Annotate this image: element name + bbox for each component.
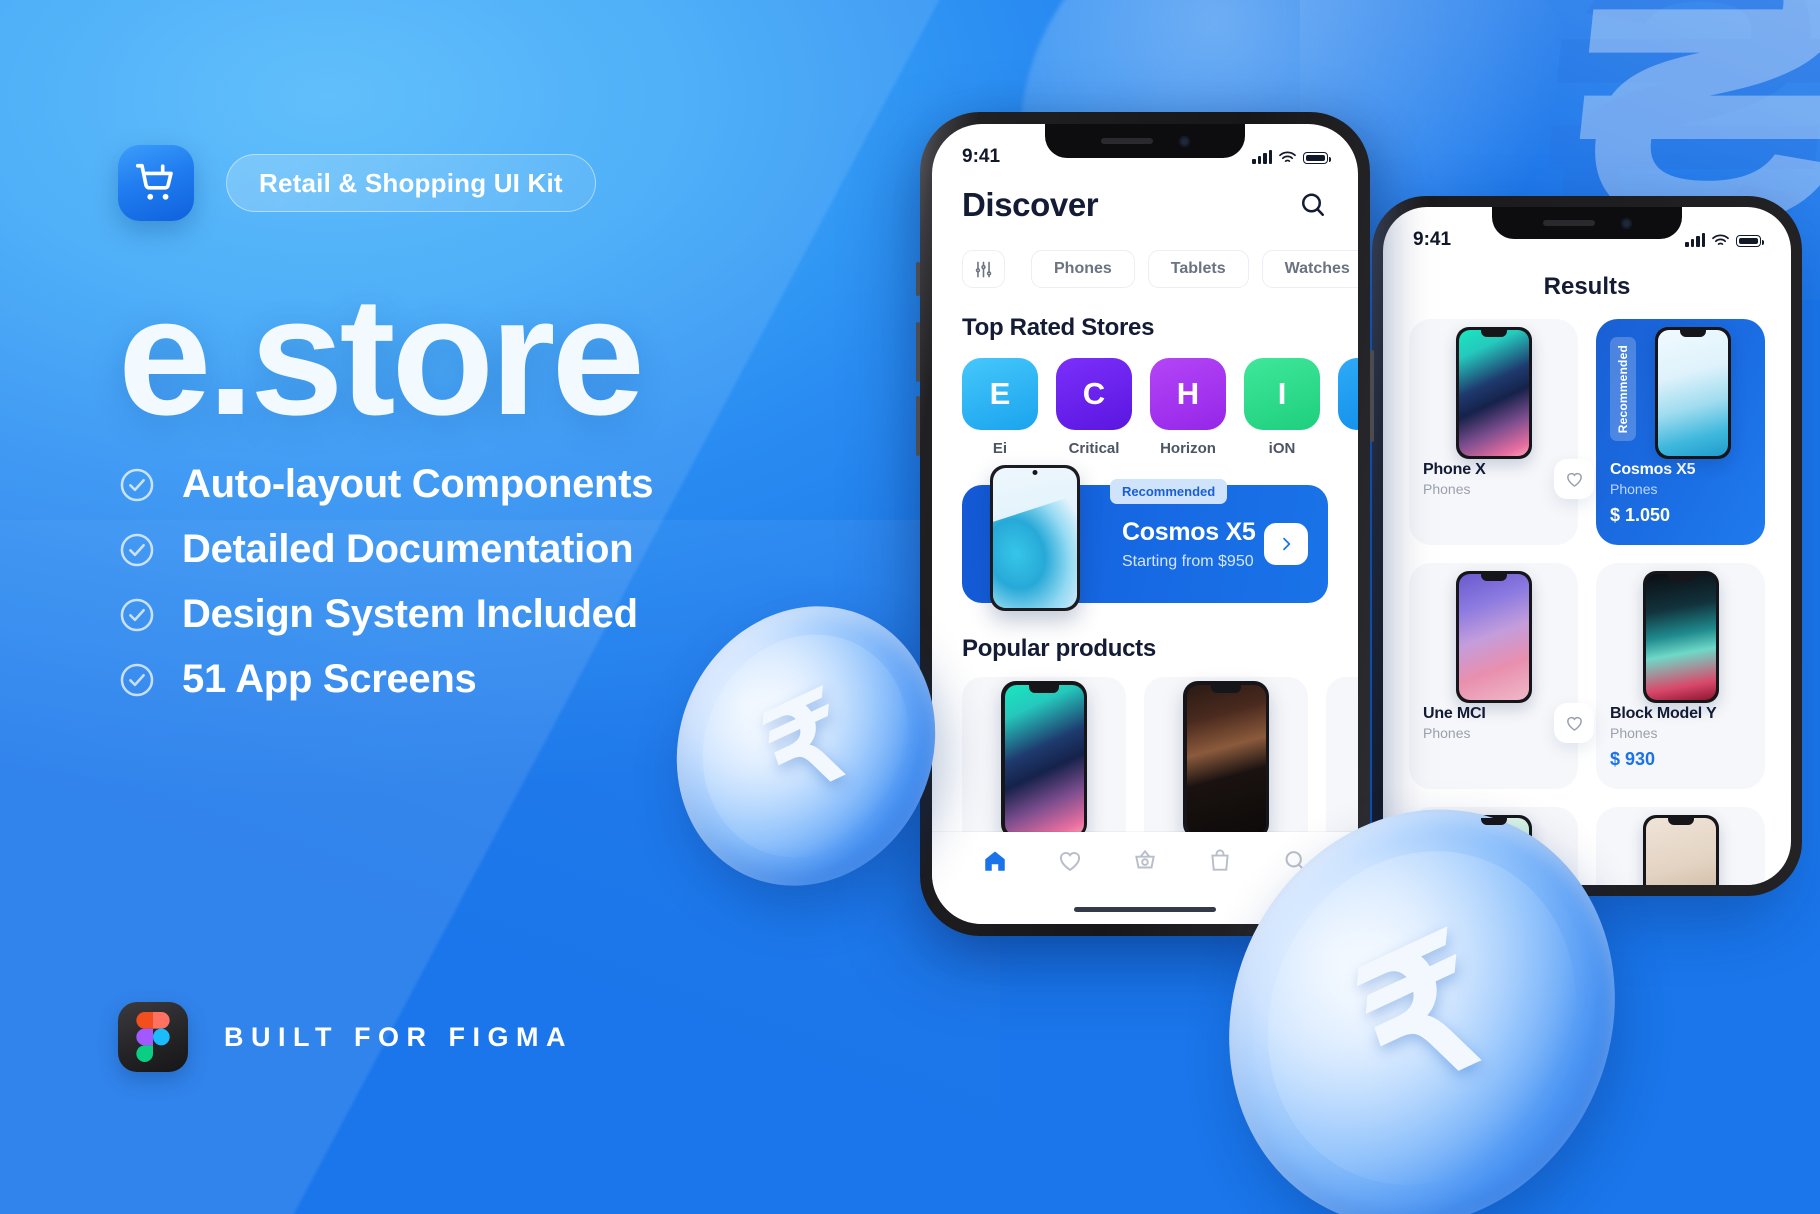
chip-phones[interactable]: Phones (1031, 250, 1135, 288)
phone-thumbnail (1655, 327, 1731, 459)
store-avatar: H (1150, 358, 1226, 430)
store-item[interactable]: I iON (1244, 358, 1320, 457)
product-image (1610, 577, 1751, 697)
feature-label: 51 App Screens (182, 657, 476, 702)
store-item[interactable]: X X G (1338, 358, 1358, 457)
tab-compare[interactable] (1132, 848, 1158, 874)
section-title-popular: Popular products (962, 635, 1328, 663)
battery-icon (1303, 152, 1328, 164)
phone-mockup-results: 9:41 Results Phone X Phones (1372, 196, 1802, 896)
feature-label: Design System Included (182, 592, 638, 637)
wallpaper (1459, 818, 1529, 885)
status-time: 9:41 (1413, 229, 1451, 251)
store-name: iON (1244, 440, 1320, 457)
filter-sliders-icon[interactable] (962, 250, 1005, 288)
phone-thumbnail (1456, 327, 1532, 459)
product-card[interactable]: Phone X Phones (1409, 319, 1578, 545)
product-card[interactable] (1596, 807, 1765, 885)
product-price: $ 930 (1610, 749, 1751, 770)
figma-logo-icon (118, 1002, 188, 1072)
wallpaper (1646, 574, 1716, 700)
list-item: Design System Included (118, 592, 653, 637)
store-name: Horizon (1150, 440, 1226, 457)
product-card[interactable]: Block Model Y Phones $ 930 (1596, 563, 1765, 789)
feature-list: Auto-layout Components Detailed Document… (118, 462, 653, 702)
product-category: Phones (1423, 481, 1564, 497)
search-icon[interactable] (1298, 190, 1328, 220)
tab-favorites[interactable] (1057, 848, 1083, 874)
phone-thumbnail (990, 465, 1080, 611)
product-category: Phones (1610, 481, 1751, 497)
phone-thumbnail (1001, 681, 1087, 839)
phone-thumbnail (1643, 815, 1719, 885)
front-camera-icon (1033, 470, 1038, 475)
phone-thumbnail (1643, 571, 1719, 703)
check-circle-icon (118, 596, 156, 634)
badge-label: Recommended (1616, 345, 1630, 433)
screen-header: Discover (962, 186, 1328, 224)
feature-label: Detailed Documentation (182, 527, 633, 572)
mute-switch[interactable] (916, 262, 920, 296)
wallpaper (993, 468, 1077, 608)
heart-icon (1565, 470, 1584, 489)
phone-thumbnail (1183, 681, 1269, 839)
discover-screen: Discover Phones Tablets Watches (932, 186, 1358, 903)
wallpaper (1658, 330, 1728, 456)
list-item: Auto-layout Components (118, 462, 653, 507)
power-button[interactable] (1370, 350, 1374, 442)
product-price: $ 1.050 (1610, 505, 1751, 526)
status-indicators (1685, 233, 1761, 247)
notch (1481, 818, 1507, 825)
home-indicator (1074, 907, 1216, 912)
notch (1029, 685, 1059, 693)
wifi-icon (1279, 151, 1296, 164)
check-circle-icon (118, 531, 156, 569)
product-card[interactable]: Une MCI Phones (1409, 563, 1578, 789)
signal-icon (1252, 150, 1272, 164)
tab-home[interactable] (982, 848, 1008, 874)
tab-search[interactable] (1282, 848, 1308, 874)
promo-product-name: Cosmos X5 (1122, 518, 1255, 547)
list-item: 51 App Screens (118, 657, 653, 702)
page-title: Results (1383, 273, 1791, 301)
store-list: E Ei C Critical H Horizon I iON X X G (962, 358, 1328, 457)
built-for-figma-label: BUILT FOR FIGMA (224, 1022, 573, 1053)
store-avatar: C (1056, 358, 1132, 430)
store-name: X G (1338, 440, 1358, 457)
store-avatar: I (1244, 358, 1320, 430)
shopping-cart-icon (118, 145, 194, 221)
promo-subtitle: Starting from $950 (1122, 553, 1255, 571)
status-indicators (1252, 150, 1328, 164)
notch (1481, 330, 1507, 337)
wallpaper (1646, 818, 1716, 885)
store-item[interactable]: C Critical (1056, 358, 1132, 457)
tab-bag[interactable] (1207, 848, 1233, 874)
promo-banner[interactable]: Cosmos X5 Starting from $950 Recommended (962, 479, 1328, 611)
wallpaper (1005, 685, 1084, 836)
store-name: Critical (1056, 440, 1132, 457)
store-name: Ei (962, 440, 1038, 457)
product-card[interactable] (1409, 807, 1578, 885)
store-avatar: E (962, 358, 1038, 430)
feature-label: Auto-layout Components (182, 462, 653, 507)
product-name: Cosmos X5 (1610, 461, 1751, 479)
product-card-featured[interactable]: Recommended Cosmos X5 Phones $ 1.050 (1596, 319, 1765, 545)
product-image (1160, 693, 1292, 839)
wifi-icon (1712, 234, 1729, 247)
product-name: Block Model Y (1610, 705, 1751, 723)
phone-b-screen: 9:41 Results Phone X Phones (1383, 207, 1791, 885)
notch (1680, 330, 1706, 337)
signal-icon (1685, 233, 1705, 247)
section-title-stores: Top Rated Stores (962, 314, 1328, 342)
chip-tablets[interactable]: Tablets (1148, 250, 1249, 288)
notch (1668, 818, 1694, 825)
store-item[interactable]: E Ei (962, 358, 1038, 457)
status-bar: 9:41 (1383, 207, 1791, 259)
check-circle-icon (118, 661, 156, 699)
phone-mockup-discover: 9:41 Discover (920, 112, 1370, 936)
product-category: Phones (1610, 725, 1751, 741)
product-image (978, 693, 1110, 839)
brand-badge-row: Retail & Shopping UI Kit (118, 145, 596, 221)
notch (1481, 574, 1507, 581)
wallpaper (1459, 330, 1529, 456)
battery-icon (1736, 235, 1761, 247)
page-title: e.store (118, 272, 641, 440)
filter-chip-row: Phones Tablets Watches (962, 250, 1328, 288)
favorite-button[interactable] (1554, 703, 1594, 743)
phone-thumbnail (1456, 571, 1532, 703)
status-badge: Recommended (1610, 337, 1636, 441)
phone-a-screen: 9:41 Discover (932, 124, 1358, 924)
wallpaper (1187, 685, 1266, 836)
store-avatar: X (1338, 358, 1358, 430)
list-item: Detailed Documentation (118, 527, 653, 572)
product-name: Phone X (1423, 461, 1564, 479)
results-grid: Phone X Phones Recommended (1383, 319, 1791, 885)
volume-down-button[interactable] (916, 396, 920, 456)
status-time: 9:41 (962, 146, 1000, 168)
kit-badge: Retail & Shopping UI Kit (226, 154, 596, 212)
check-circle-icon (118, 466, 156, 504)
product-category: Phones (1423, 725, 1564, 741)
product-image (1423, 577, 1564, 697)
wallpaper (1459, 574, 1529, 700)
promo-text: Cosmos X5 Starting from $950 (1122, 518, 1255, 571)
product-image (1423, 333, 1564, 453)
product-image (1423, 821, 1564, 885)
product-image (1610, 821, 1751, 885)
hero-content: Retail & Shopping UI Kit e.store Auto-la… (118, 0, 938, 1214)
status-bar: 9:41 (932, 124, 1358, 176)
status-badge: Recommended (1110, 479, 1227, 504)
page-title: Discover (962, 186, 1098, 224)
notch (1668, 574, 1694, 581)
favorite-button[interactable] (1554, 459, 1594, 499)
notch (1211, 685, 1241, 693)
kit-badge-label: Retail & Shopping UI Kit (259, 168, 563, 199)
heart-icon (1565, 714, 1584, 733)
store-item[interactable]: H Horizon (1150, 358, 1226, 457)
chip-watches[interactable]: Watches (1262, 250, 1358, 288)
product-name: Une MCI (1423, 705, 1564, 723)
phone-thumbnail (1456, 815, 1532, 885)
figma-footer: BUILT FOR FIGMA (118, 1002, 573, 1072)
volume-up-button[interactable] (916, 322, 920, 382)
chevron-right-icon[interactable] (1264, 523, 1308, 565)
